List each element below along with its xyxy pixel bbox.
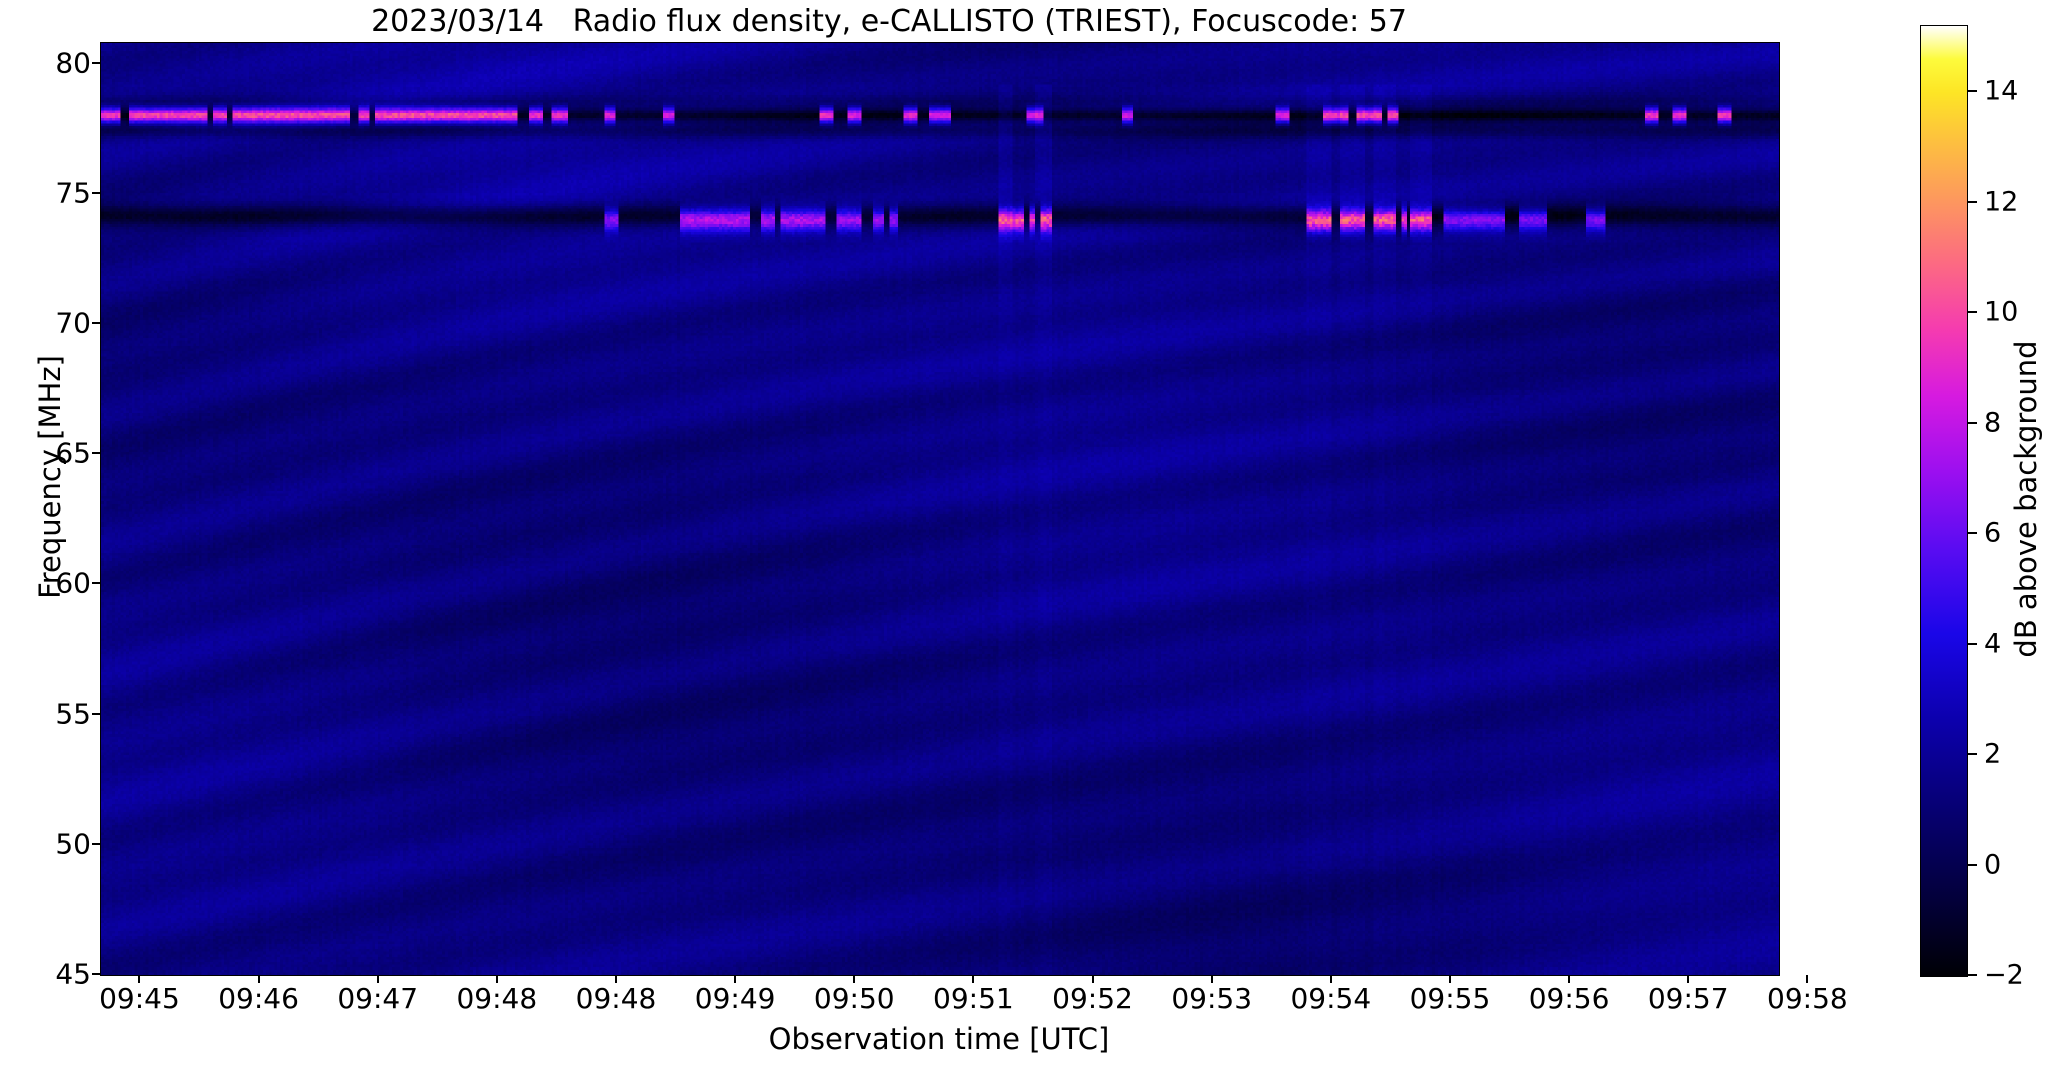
y-axis-tick-mark [92, 713, 100, 715]
x-axis-tick-label: 09:48 [576, 982, 657, 1015]
x-axis-tick-label: 09:48 [456, 982, 537, 1015]
colorbar-tick-mark [1968, 422, 1977, 424]
colorbar-tick-label: 0 [1984, 849, 2001, 880]
spectrogram-image [101, 43, 1779, 975]
y-axis-tick-mark [92, 973, 100, 975]
x-axis-tick-mark [1806, 975, 1808, 983]
x-axis-tick-mark [1211, 975, 1213, 983]
y-axis-tick-mark [92, 62, 100, 64]
y-axis-tick-mark [92, 322, 100, 324]
colorbar-tick-mark [1968, 201, 1977, 203]
x-axis-tick-label: 09:55 [1410, 982, 1491, 1015]
colorbar-tick-label: 6 [1984, 518, 2001, 549]
figure-canvas: 2023/03/14 Radio flux density, e-CALLIST… [0, 0, 2047, 1067]
x-axis-tick-label: 09:47 [337, 982, 418, 1015]
x-axis-tick-mark [1449, 975, 1451, 983]
x-axis-tick-mark [734, 975, 736, 983]
colorbar-label: dB above background [2009, 169, 2043, 829]
x-axis-tick-mark [853, 975, 855, 983]
colorbar-tick-mark [1968, 974, 1977, 976]
x-axis-tick-label: 09:45 [99, 982, 180, 1015]
x-axis-tick-label: 09:58 [1767, 982, 1848, 1015]
x-axis-tick-mark [972, 975, 974, 983]
x-axis-tick-label: 09:46 [218, 982, 299, 1015]
y-axis-tick-mark [92, 452, 100, 454]
colorbar-tick-mark [1968, 753, 1977, 755]
x-axis-tick-mark [615, 975, 617, 983]
y-axis-tick-label: 45 [55, 958, 91, 991]
y-axis-label-wrap: Frequency [MHz] [10, 0, 11, 1]
spectrogram-axes [100, 42, 1780, 976]
x-axis-tick-label: 09:53 [1171, 982, 1252, 1015]
x-axis-tick-label: 09:49 [695, 982, 776, 1015]
colorbar-tick-label: 2 [1984, 739, 2001, 770]
x-axis-tick-label: 09:57 [1648, 982, 1729, 1015]
x-axis-tick-mark [377, 975, 379, 983]
colorbar-tick-mark [1968, 90, 1977, 92]
colorbar-label-wrap: dB above background [2026, 500, 2027, 501]
colorbar-tick-mark [1968, 864, 1977, 866]
y-axis-tick-mark [92, 843, 100, 845]
colorbar-tick-mark [1968, 643, 1977, 645]
colorbar-tick-mark [1968, 532, 1977, 534]
x-axis-tick-mark [138, 975, 140, 983]
colorbar-tick-label: 8 [1984, 407, 2001, 438]
colorbar-gradient [1921, 26, 1967, 976]
colorbar-tick-label: −2 [1984, 960, 2024, 991]
x-axis-tick-mark [258, 975, 260, 983]
x-axis-tick-mark [1330, 975, 1332, 983]
colorbar-tick-label: 14 [1984, 76, 2018, 107]
x-axis-tick-label: 09:54 [1290, 982, 1371, 1015]
x-axis-tick-mark [496, 975, 498, 983]
x-axis-tick-mark [1568, 975, 1570, 983]
x-axis-tick-label: 09:52 [1052, 982, 1133, 1015]
x-axis-tick-mark [1092, 975, 1094, 983]
x-axis-label: Observation time [UTC] [100, 1022, 1778, 1056]
x-axis-tick-label: 09:51 [933, 982, 1014, 1015]
colorbar-tick-mark [1968, 311, 1977, 313]
colorbar-tick-label: 4 [1984, 628, 2001, 659]
colorbar [1920, 25, 1968, 977]
y-axis-tick-mark [92, 582, 100, 584]
x-axis-tick-label: 09:50 [814, 982, 895, 1015]
y-axis-label: Frequency [MHz] [33, 7, 67, 947]
y-axis-tick-mark [92, 192, 100, 194]
x-axis-tick-label: 09:56 [1529, 982, 1610, 1015]
chart-title: 2023/03/14 Radio flux density, e-CALLIST… [0, 4, 1778, 39]
spectrogram-canvas [101, 43, 1779, 975]
x-axis-tick-mark [1687, 975, 1689, 983]
